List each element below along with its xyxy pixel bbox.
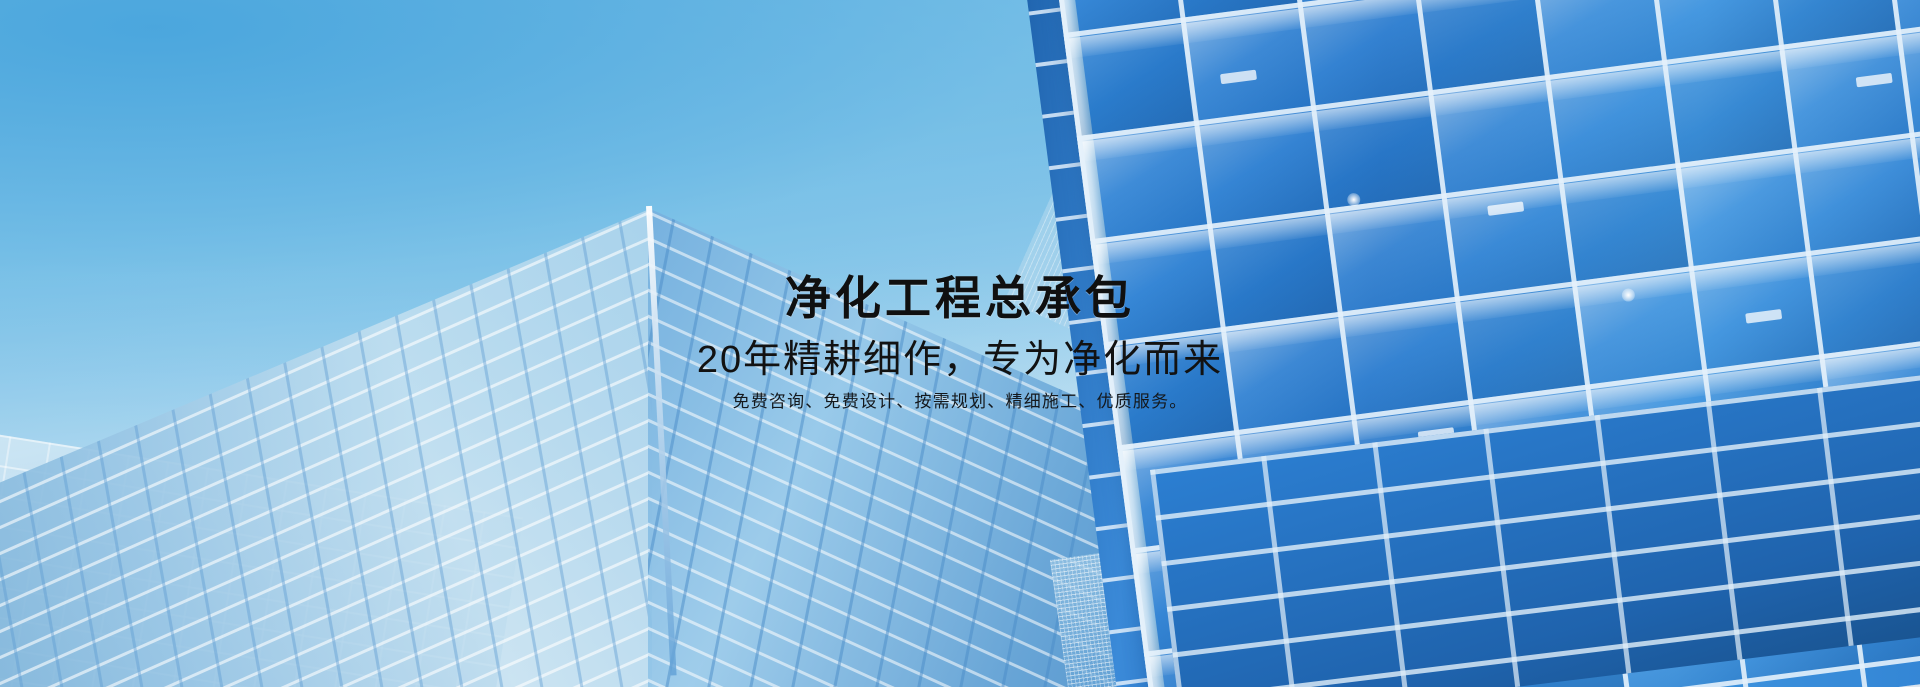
wedge-mullion	[0, 0, 694, 211]
curtain-wall-mullion-vertical	[1706, 401, 1743, 660]
wedge-mullion	[0, 0, 694, 263]
curtain-wall-mullion-vertical	[1483, 428, 1520, 687]
wedge-mullion	[0, 0, 694, 29]
hero-tagline: 免费咨询、免费设计、按需规划、精细施工、优质服务。	[0, 392, 1920, 412]
wedge-mullion	[0, 0, 694, 159]
wedge-mullion	[0, 0, 694, 3]
wedge-mullion	[0, 0, 694, 237]
wedge-mullion	[0, 0, 694, 81]
wedge-mullion	[0, 0, 694, 133]
hero-banner: 净化工程总承包 20年精耕细作，专为净化而来 免费咨询、免费设计、按需规划、精细…	[0, 0, 1920, 687]
hero-copy: 净化工程总承包 20年精耕细作，专为净化而来 免费咨询、免费设计、按需规划、精细…	[0, 272, 1920, 413]
wedge-mullion	[0, 0, 694, 107]
page-title: 净化工程总承包	[0, 272, 1920, 324]
wedge-mullion	[0, 0, 694, 185]
curtain-wall-mullion-vertical	[1372, 442, 1409, 687]
hero-subtitle: 20年精耕细作，专为净化而来	[0, 340, 1920, 382]
curtain-wall-mullion-vertical	[1261, 456, 1298, 687]
curtain-wall-mullion-vertical	[1595, 415, 1632, 674]
curtain-wall-mullion-vertical	[1817, 387, 1854, 646]
wedge-mullion	[0, 0, 694, 55]
